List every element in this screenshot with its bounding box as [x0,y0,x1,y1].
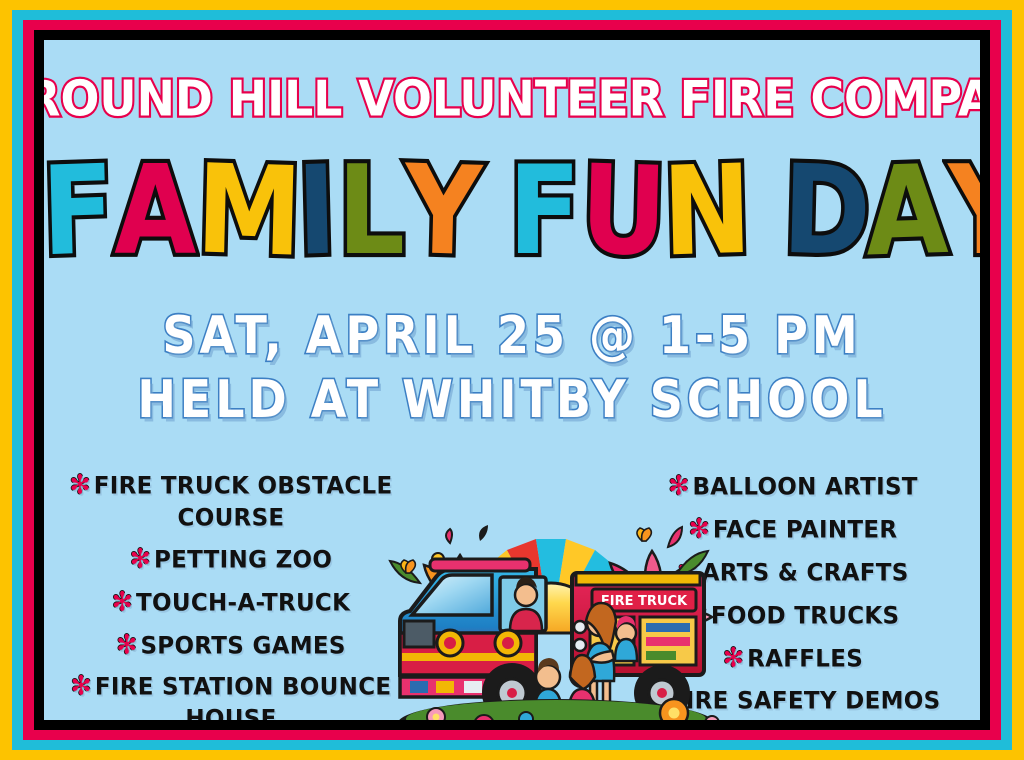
border-frame-yellow: ROUND HILL VOLUNTEER FIRE COMPANY'S FAMI… [0,0,1024,760]
title-letter: U [580,148,669,273]
butterfly-right [637,528,651,541]
list-item: ✻PETTING ZOO [66,542,396,577]
flyer-canvas: ROUND HILL VOLUNTEER FIRE COMPANY'S FAMI… [44,40,980,720]
list-item-label: FOOD TRUCKS [711,602,900,630]
list-item: ✻FIRE STATION BOUNCE HOUSE [66,670,396,720]
list-item-label: PETTING ZOO [154,546,332,574]
title-letter: Y [403,148,483,273]
list-item-label: FIRE TRUCK OBSTACLE COURSE [94,472,393,531]
list-item-label: TOUCH-A-TRUCK [136,589,350,617]
title-letter: Y [948,149,980,272]
asterisk-bullet-icon: ✻ [69,469,90,500]
asterisk-bullet-icon: ✻ [116,629,137,660]
list-item-label: FACE PAINTER [713,516,898,544]
title-letter: F [44,148,116,273]
title-letter: L [337,149,405,272]
list-item-label: FIRE STATION BOUNCE HOUSE [95,674,392,720]
list-item: ✻SPORTS GAMES [66,628,396,663]
event-date-line: SAT, APRIL 25 @ 1-5 PM [44,305,980,365]
asterisk-bullet-icon: ✻ [130,543,151,574]
asterisk-bullet-icon: ✻ [112,586,133,617]
title-letter: F [509,149,581,272]
company-name-heading: ROUND HILL VOLUNTEER FIRE COMPANY'S [44,71,980,128]
list-item: ✻FIRE TRUCK OBSTACLE COURSE [66,468,396,535]
page-title: FAMILYFUNDAY [44,168,980,272]
title-letter: D [781,148,872,274]
list-item: ✻TOUCH-A-TRUCK [66,585,396,620]
butterfly-left [401,560,415,573]
title-letter: N [661,148,753,274]
title-letter: I [296,149,338,273]
title-letter: A [114,149,196,272]
border-frame-crimson: ROUND HILL VOLUNTEER FIRE COMPANY'S FAMI… [23,20,1001,740]
truck-label: FIRE TRUCK [601,594,688,609]
grass-base [398,699,719,720]
list-item-label: RAFFLES [747,645,863,673]
border-frame-black: ROUND HILL VOLUNTEER FIRE COMPANY'S FAMI… [34,30,990,730]
title-letter: A [864,148,949,273]
border-frame-cyan: ROUND HILL VOLUNTEER FIRE COMPANY'S FAMI… [12,10,1012,750]
fire-truck-illustration: FIRE TRUCK [376,455,736,720]
activities-list-left: ✻FIRE TRUCK OBSTACLE COURSE✻PETTING ZOO✻… [66,470,396,720]
list-item-label: SPORTS GAMES [140,632,345,660]
asterisk-bullet-icon: ✻ [71,671,92,702]
title-letter: M [195,148,303,274]
event-location-line: HELD AT WHITBY SCHOOL [44,369,980,429]
